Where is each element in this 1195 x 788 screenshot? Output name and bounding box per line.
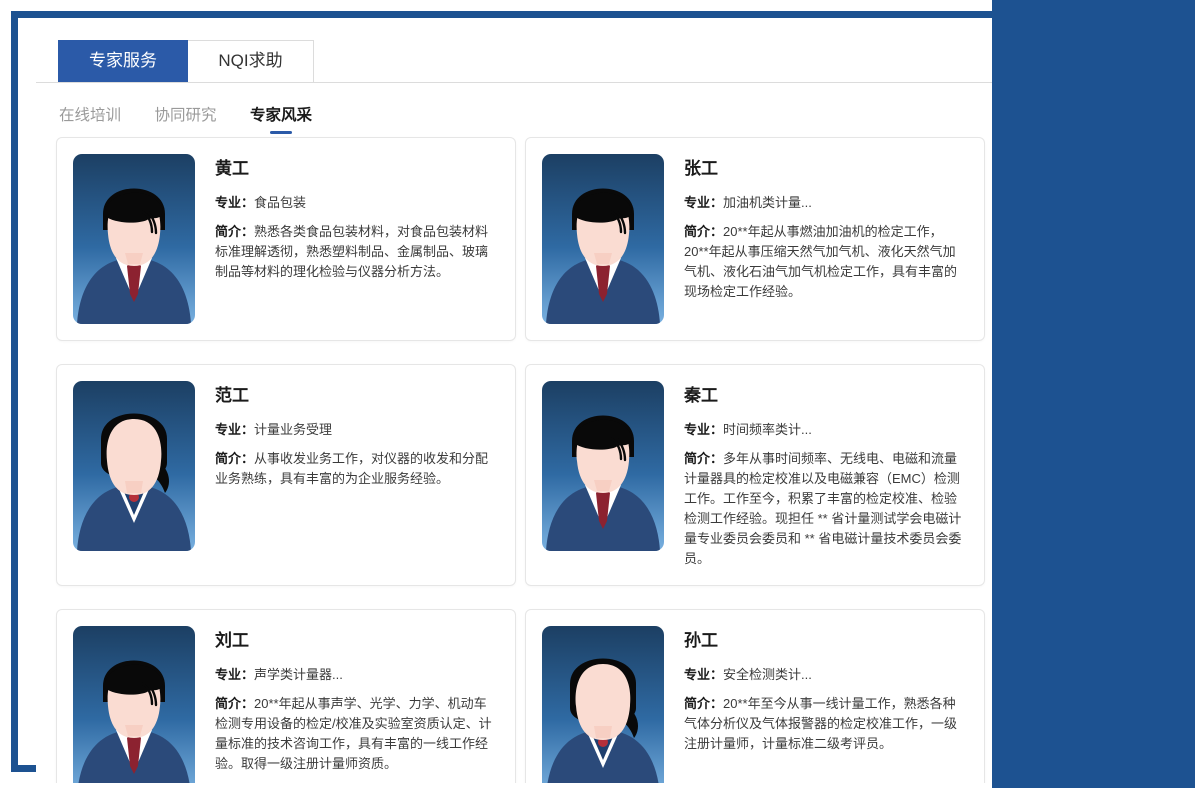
expert-major-value: 安全检测类计... <box>723 667 812 682</box>
expert-bio-label: 简介： <box>684 696 723 711</box>
expert-bio-value: 20**年至今从事一线计量工作，熟悉各种气体分析仪及气体报警器的检定校准工作，一… <box>684 696 957 751</box>
expert-bio-label: 简介： <box>215 451 254 466</box>
expert-bio-value: 从事收发业务工作，对仪器的收发和分配业务熟练，具有丰富的为企业服务经验。 <box>215 451 488 486</box>
tab-nqi-help[interactable]: NQI求助 <box>188 40 314 82</box>
expert-avatar-male <box>73 626 195 783</box>
expert-card[interactable]: 秦工专业：时间频率类计...简介：多年从事时间频率、无线电、电磁和流量计量器具的… <box>525 364 985 586</box>
expert-major-row: 专业：计量业务受理 <box>215 420 497 440</box>
expert-card-body: 刘工专业：声学类计量器...简介：20**年起从事声学、光学、力学、机动车检测专… <box>215 626 497 783</box>
expert-major-row: 专业：食品包装 <box>215 193 497 213</box>
expert-card[interactable]: 刘工专业：声学类计量器...简介：20**年起从事声学、光学、力学、机动车检测专… <box>56 609 516 783</box>
tab-nqi-help-label: NQI求助 <box>218 51 282 70</box>
expert-card[interactable]: 张工专业：加油机类计量...简介：20**年起从事燃油加油机的检定工作，20**… <box>525 137 985 341</box>
expert-avatar-male <box>73 154 195 324</box>
expert-bio-label: 简介： <box>215 224 254 239</box>
sub-tab-bar: 在线培训 协同研究 专家风采 <box>36 83 1010 137</box>
expert-card-body: 黄工专业：食品包装简介：熟悉各类食品包装材料，对食品包装材料标准理解透彻，熟悉塑… <box>215 154 497 324</box>
expert-major-row: 专业：声学类计量器... <box>215 665 497 685</box>
expert-name: 刘工 <box>215 630 497 652</box>
page-root: 专家服务 NQI求助 在线培训 协同研究 专家风采 黄工专业：食品包装简介：熟悉… <box>0 0 1195 788</box>
expert-major-label: 专业： <box>215 195 254 210</box>
expert-bio-value: 20**年起从事声学、光学、力学、机动车检测专用设备的检定/校准及实验室资质认定… <box>215 696 492 771</box>
expert-major-row: 专业：安全检测类计... <box>684 665 966 685</box>
tab-expert-service-label: 专家服务 <box>89 51 157 70</box>
expert-major-label: 专业： <box>215 422 254 437</box>
side-panel: 专家风采 <box>992 11 1195 788</box>
expert-bio-row: 简介：熟悉各类食品包装材料，对食品包装材料标准理解透彻，熟悉塑料制品、金属制品、… <box>215 222 497 282</box>
content-frame: 专家服务 NQI求助 在线培训 协同研究 专家风采 黄工专业：食品包装简介：熟悉… <box>11 11 992 772</box>
expert-bio-label: 简介： <box>215 696 254 711</box>
expert-card-body: 张工专业：加油机类计量...简介：20**年起从事燃油加油机的检定工作，20**… <box>684 154 966 324</box>
expert-major-value: 时间频率类计... <box>723 422 812 437</box>
expert-bio-row: 简介：多年从事时间频率、无线电、电磁和流量计量器具的检定校准以及电磁兼容（EMC… <box>684 449 966 569</box>
expert-name: 张工 <box>684 158 966 180</box>
expert-major-row: 专业：加油机类计量... <box>684 193 966 213</box>
expert-card-body: 孙工专业：安全检测类计...简介：20**年至今从事一线计量工作，熟悉各种气体分… <box>684 626 966 783</box>
expert-name: 范工 <box>215 385 497 407</box>
subtab-online-training-label: 在线培训 <box>59 107 121 124</box>
expert-card[interactable]: 黄工专业：食品包装简介：熟悉各类食品包装材料，对食品包装材料标准理解透彻，熟悉塑… <box>56 137 516 341</box>
expert-card[interactable]: 范工专业：计量业务受理简介：从事收发业务工作，对仪器的收发和分配业务熟练，具有丰… <box>56 364 516 586</box>
expert-major-label: 专业： <box>684 422 723 437</box>
expert-bio-row: 简介：20**年至今从事一线计量工作，熟悉各种气体分析仪及气体报警器的检定校准工… <box>684 694 966 754</box>
expert-major-value: 声学类计量器... <box>254 667 343 682</box>
expert-avatar-male <box>542 154 664 324</box>
expert-major-label: 专业： <box>684 667 723 682</box>
expert-name: 黄工 <box>215 158 497 180</box>
expert-card-body: 秦工专业：时间频率类计...简介：多年从事时间频率、无线电、电磁和流量计量器具的… <box>684 381 966 569</box>
content-area: 专家服务 NQI求助 在线培训 协同研究 专家风采 黄工专业：食品包装简介：熟悉… <box>36 29 1010 783</box>
expert-avatar-female <box>542 626 664 783</box>
expert-bio-value: 熟悉各类食品包装材料，对食品包装材料标准理解透彻，熟悉塑料制品、金属制品、玻璃制… <box>215 224 488 279</box>
subtab-online-training[interactable]: 在线培训 <box>59 103 121 134</box>
top-tab-bar: 专家服务 NQI求助 <box>36 40 1010 83</box>
expert-major-row: 专业：时间频率类计... <box>684 420 966 440</box>
expert-major-value: 食品包装 <box>254 195 306 210</box>
expert-avatar-male <box>542 381 664 551</box>
expert-bio-label: 简介： <box>684 224 723 239</box>
expert-bio-value: 多年从事时间频率、无线电、电磁和流量计量器具的检定校准以及电磁兼容（EMC）检测… <box>684 451 961 566</box>
expert-major-value: 加油机类计量... <box>723 195 812 210</box>
expert-card-body: 范工专业：计量业务受理简介：从事收发业务工作，对仪器的收发和分配业务熟练，具有丰… <box>215 381 497 569</box>
expert-bio-label: 简介： <box>684 451 723 466</box>
tab-expert-service[interactable]: 专家服务 <box>58 40 188 82</box>
expert-avatar-female <box>73 381 195 551</box>
expert-bio-row: 简介：20**年起从事声学、光学、力学、机动车检测专用设备的检定/校准及实验室资… <box>215 694 497 774</box>
expert-card-grid: 黄工专业：食品包装简介：熟悉各类食品包装材料，对食品包装材料标准理解透彻，熟悉塑… <box>36 137 1010 783</box>
expert-major-label: 专业： <box>215 667 254 682</box>
subtab-expert-showcase-label: 专家风采 <box>250 107 312 124</box>
subtab-collaborative-research-label: 协同研究 <box>154 107 216 124</box>
expert-bio-row: 简介：从事收发业务工作，对仪器的收发和分配业务熟练，具有丰富的为企业服务经验。 <box>215 449 497 489</box>
expert-card[interactable]: 孙工专业：安全检测类计...简介：20**年至今从事一线计量工作，熟悉各种气体分… <box>525 609 985 783</box>
subtab-expert-showcase[interactable]: 专家风采 <box>250 103 312 134</box>
expert-bio-value: 20**年起从事燃油加油机的检定工作，20**年起从事压缩天然气加气机、液化天然… <box>684 224 957 299</box>
expert-name: 秦工 <box>684 385 966 407</box>
expert-bio-row: 简介：20**年起从事燃油加油机的检定工作，20**年起从事压缩天然气加气机、液… <box>684 222 966 302</box>
expert-major-value: 计量业务受理 <box>254 422 332 437</box>
expert-name: 孙工 <box>684 630 966 652</box>
expert-major-label: 专业： <box>684 195 723 210</box>
subtab-collaborative-research[interactable]: 协同研究 <box>154 103 216 134</box>
